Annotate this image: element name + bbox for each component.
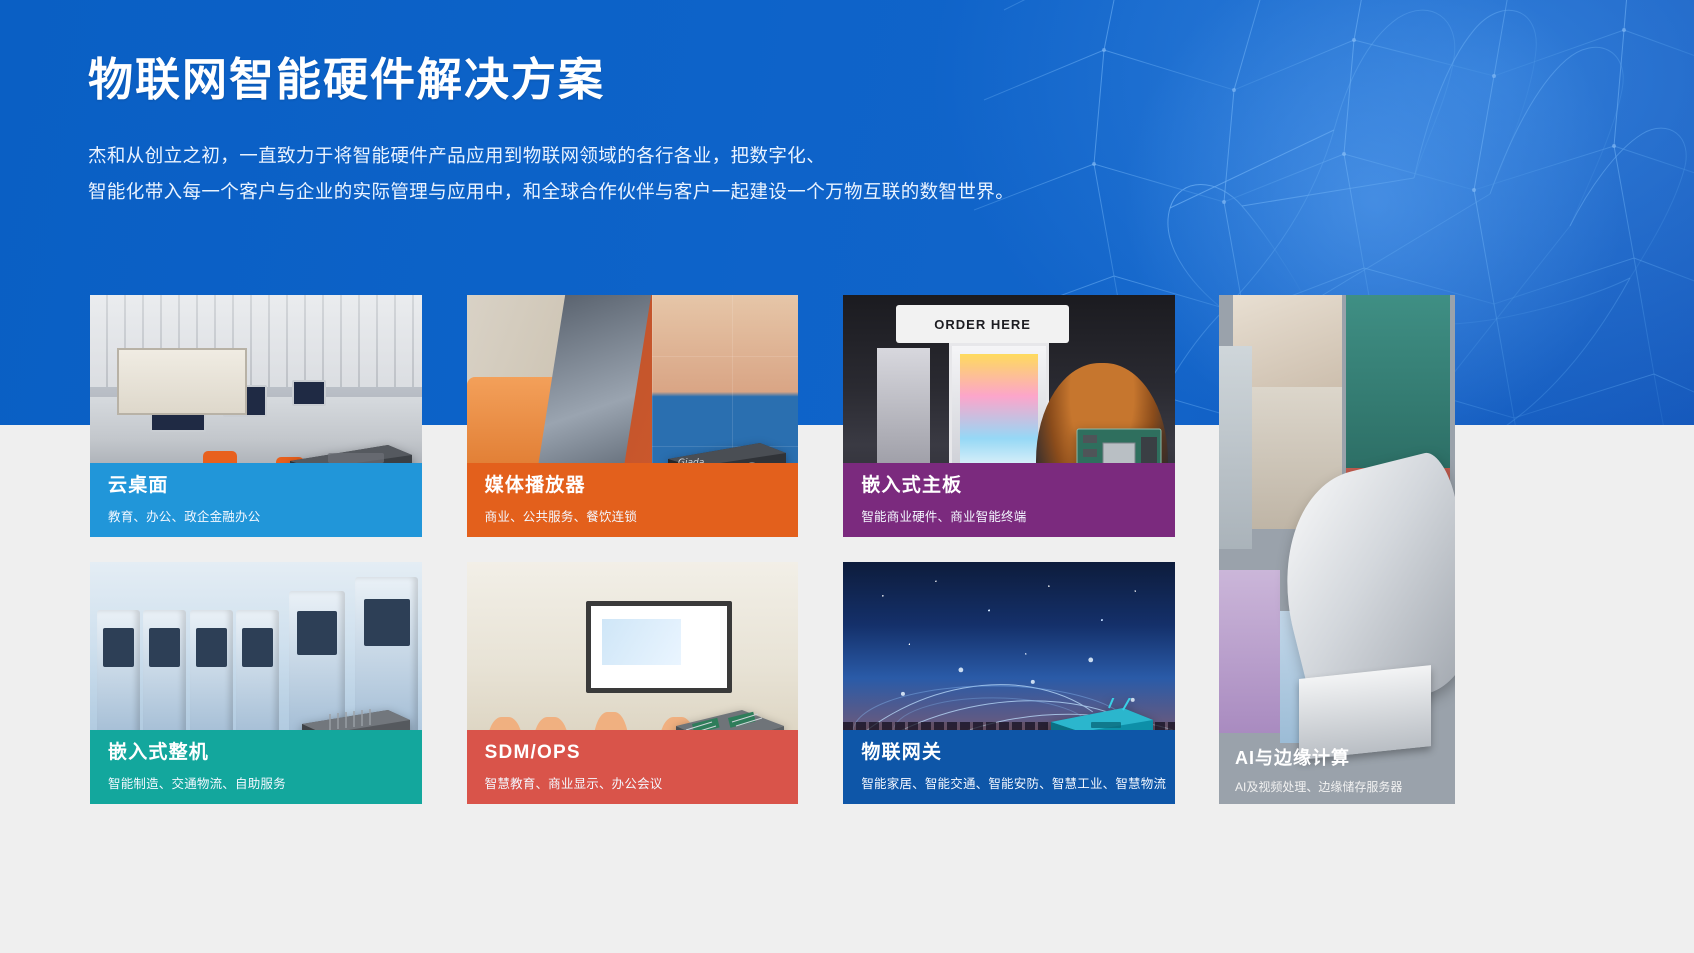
solution-card-iot-gateway[interactable]: 物联网关 智能家居、智能交通、智能安防、智慧工业、智慧物流 xyxy=(843,562,1175,804)
solution-card-ai-edge-computing[interactable]: AI与边缘计算 AI及视频处理、边缘储存服务器 xyxy=(1219,295,1455,804)
card-caption: 媒体播放器 商业、公共服务、餐饮连锁 xyxy=(467,463,799,537)
signage-tile-music xyxy=(1219,570,1280,733)
card-row-1: Giada 云桌面 教育、办公、政企金融办公 xyxy=(90,295,1175,537)
card-subtitle: 智能商业硬件、商业智能终端 xyxy=(861,506,1175,525)
solution-card-media-player[interactable]: Giada 媒体播放器 商业、公共服务、餐饮连锁 xyxy=(467,295,799,537)
card-subtitle: 商业、公共服务、餐饮连锁 xyxy=(485,506,799,525)
card-caption: 物联网关 智能家居、智能交通、智能安防、智慧工业、智慧物流 xyxy=(843,730,1175,804)
signage-tile-sport-news xyxy=(1346,295,1450,468)
panel-caption: AI与边缘计算 AI及视频处理、边缘储存服务器 xyxy=(1219,732,1455,804)
card-caption: 云桌面 教育、办公、政企金融办公 xyxy=(90,463,422,537)
card-title: SDM/OPS xyxy=(485,743,799,764)
page-root: 物联网智能硬件解决方案 杰和从创立之初，一直致力于将智能硬件产品应用到物联网领域… xyxy=(0,0,1694,953)
card-title: 云桌面 xyxy=(108,476,422,497)
card-subtitle: 智能制造、交通物流、自助服务 xyxy=(108,773,422,792)
solution-card-cloud-desktop[interactable]: Giada 云桌面 教育、办公、政企金融办公 xyxy=(90,295,422,537)
page-title: 物联网智能硬件解决方案 xyxy=(88,54,605,106)
panel-subtitle: AI及视频处理、边缘储存服务器 xyxy=(1235,778,1455,795)
card-caption: SDM/OPS 智慧教育、商业显示、办公会议 xyxy=(467,730,799,804)
solution-card-embedded-board[interactable]: 嵌入式主板 智能商业硬件、商业智能终端 xyxy=(843,295,1175,537)
card-subtitle: 智能家居、智能交通、智能安防、智慧工业、智慧物流 xyxy=(861,773,1175,792)
card-title: 嵌入式整机 xyxy=(108,743,422,764)
solution-card-grid: Giada 云桌面 教育、办公、政企金融办公 xyxy=(90,295,1175,804)
card-title: 嵌入式主板 xyxy=(861,476,1175,497)
card-title: 物联网关 xyxy=(861,743,1175,764)
hero-description-line-1: 杰和从创立之初，一直致力于将智能硬件产品应用到物联网领域的各行各业，把数字化、 xyxy=(88,138,1014,174)
card-subtitle: 智慧教育、商业显示、办公会议 xyxy=(485,773,799,792)
hero-description-line-2: 智能化带入每一个客户与企业的实际管理与应用中，和全球合作伙伴与客户一起建设一个万… xyxy=(88,174,1014,210)
signage-tile-business xyxy=(1219,346,1252,550)
card-row-2: 嵌入式整机 智能制造、交通物流、自助服务 xyxy=(90,562,1175,804)
solution-card-sdm-ops[interactable]: SDM/OPS 智慧教育、商业显示、办公会议 xyxy=(467,562,799,804)
hero-description: 杰和从创立之初，一直致力于将智能硬件产品应用到物联网领域的各行各业，把数字化、 … xyxy=(88,138,1014,210)
card-subtitle: 教育、办公、政企金融办公 xyxy=(108,506,422,525)
card-title: 媒体播放器 xyxy=(485,476,799,497)
card-caption: 嵌入式主板 智能商业硬件、商业智能终端 xyxy=(843,463,1175,537)
panel-title: AI与边缘计算 xyxy=(1235,744,1455,770)
solution-card-embedded-system[interactable]: 嵌入式整机 智能制造、交通物流、自助服务 xyxy=(90,562,422,804)
card-caption: 嵌入式整机 智能制造、交通物流、自助服务 xyxy=(90,730,422,804)
